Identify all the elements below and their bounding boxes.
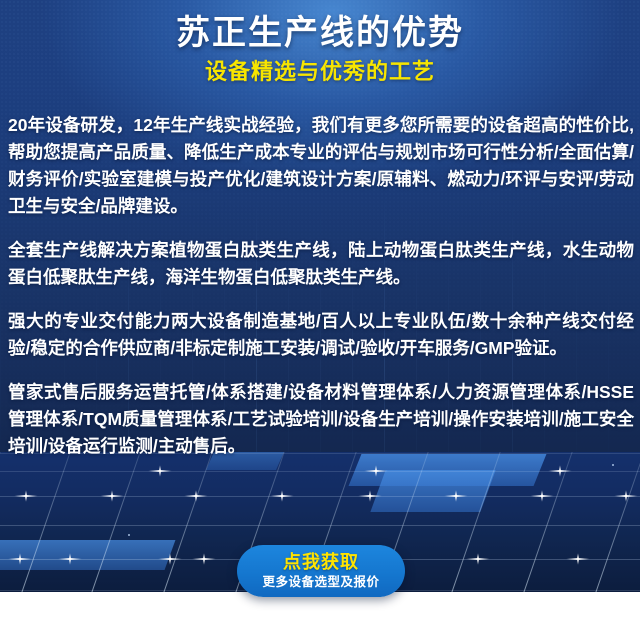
floor-horizontal-line [0,471,640,472]
floor-horizontal-line [0,496,640,497]
page-subtitle: 设备精选与优秀的工艺 [0,54,640,86]
cta-button[interactable]: 点我获取 更多设备选型及报价 [237,545,405,597]
floor-diagonal-line [514,452,583,592]
page-title: 苏正生产线的优势 [0,0,640,54]
paragraph-delivery: 强大的专业交付能力两大设备制造基地/百人以上专业队伍/数十余种产线交付经验/稳定… [8,308,634,362]
floor-highlight-cell [370,470,495,512]
floor-diagonal-line [586,452,640,592]
poster-header: 苏正生产线的优势 设备精选与优秀的工艺 [0,0,640,86]
floor-diagonal-line [442,452,511,592]
background-speck [612,464,614,466]
paragraph-capabilities: 20年设备研发，12年生产线实战经验，我们有更多您所需要的设备超高的性价比,帮助… [8,112,634,220]
promotional-poster: 苏正生产线的优势 设备精选与优秀的工艺 20年设备研发，12年生产线实战经验，我… [0,0,640,631]
floor-diagonal-line [82,452,151,592]
paragraph-after-sales: 管家式售后服务运营托管/体系搭建/设备材料管理体系/人力资源管理体系/HSSE管… [8,379,634,460]
background-speck [128,534,130,536]
floor-diagonal-line [0,452,11,592]
body-copy: 20年设备研发，12年生产线实战经验，我们有更多您所需要的设备超高的性价比,帮助… [8,112,634,460]
floor-horizontal-line [0,525,640,526]
floor-diagonal-line [12,452,81,592]
cta-main-label: 点我获取 [283,551,359,573]
footer-whitespace [0,592,640,631]
floor-highlight-cell [0,540,175,570]
paragraph-production-lines: 全套生产线解决方案植物蛋白肽类生产线，陆上动物蛋白肽类生产线，水生动物蛋白低聚肽… [8,237,634,291]
cta-sub-label: 更多设备选型及报价 [262,573,379,591]
floor-diagonal-line [154,452,223,592]
